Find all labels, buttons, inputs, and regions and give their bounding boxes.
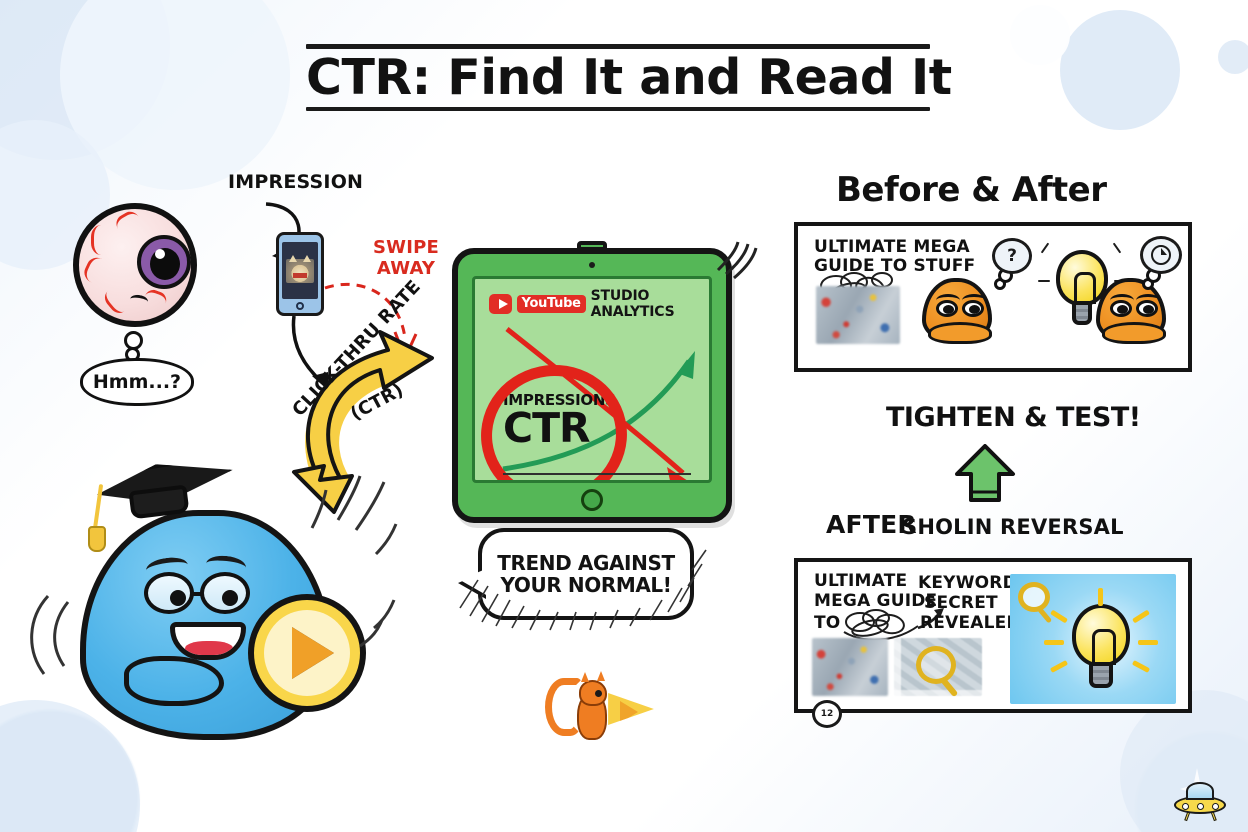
mascot-pupil-left bbox=[170, 590, 186, 606]
youtube-logo: YouTube STUDIO ANALYTICS bbox=[489, 288, 709, 320]
mascot-motion-lines-right bbox=[290, 470, 400, 670]
eyeball-glint bbox=[155, 249, 165, 259]
tablet-camera-icon bbox=[589, 262, 595, 268]
magnifying-glass-icon bbox=[916, 646, 956, 684]
title-rule-bottom bbox=[306, 107, 930, 111]
impression-label: IMPRESSION bbox=[228, 172, 363, 192]
blob-character-after bbox=[1096, 278, 1166, 344]
speech-bubble-hatching bbox=[440, 520, 740, 640]
phone-screen bbox=[282, 242, 318, 299]
squirrel-eye bbox=[595, 690, 602, 697]
lightbulb-ray bbox=[1050, 660, 1068, 673]
lightbulb-ray bbox=[1041, 243, 1050, 254]
green-up-arrow-icon bbox=[955, 444, 1019, 506]
swipe-away-line1: SWIPE bbox=[373, 238, 439, 257]
ufo-light bbox=[1197, 803, 1204, 810]
blob-eye-left bbox=[936, 300, 958, 317]
mascot-tongue bbox=[185, 641, 233, 657]
poster-canvas: CTR: Find It and Read It Hmm...? IMPRESS… bbox=[0, 0, 1248, 832]
squirrel-play-button-icon bbox=[605, 684, 657, 734]
after-badge-text: 12 bbox=[821, 709, 834, 719]
before-thumbnail-image bbox=[816, 286, 900, 344]
tablet-top-nub bbox=[577, 241, 607, 251]
blob-eye-right bbox=[962, 300, 984, 317]
magnifier-ring bbox=[916, 646, 956, 684]
lightbulb-ray bbox=[1044, 640, 1064, 645]
magnifier-ring bbox=[1018, 582, 1050, 612]
before-after-heading: Before & After bbox=[836, 170, 1106, 210]
studio-analytics-label: STUDIO ANALYTICS bbox=[591, 288, 709, 320]
after-headline-line1: ULTIMATE bbox=[814, 572, 907, 590]
lightbulb-ray bbox=[1132, 660, 1150, 673]
phone-thumbnail-image bbox=[286, 259, 314, 283]
lightbulb-ray bbox=[1113, 243, 1122, 254]
phone-home-button bbox=[296, 302, 304, 310]
ufo-light bbox=[1212, 803, 1219, 810]
blob-crossed-arms bbox=[1102, 322, 1166, 344]
eyeball-icon bbox=[73, 203, 197, 327]
after-result-panel: ULTIMATE MEGA GUIDE TO 12 KEYWORD SECRET… bbox=[794, 558, 1192, 713]
background-bokeh bbox=[60, 0, 290, 190]
tablet-screen: YouTube STUDIO ANALYTICS IMPRESSIONS CTR bbox=[472, 276, 712, 483]
glasses-lens-right bbox=[200, 572, 250, 614]
mascot-arm bbox=[124, 656, 224, 706]
lightbulb-ray bbox=[1050, 610, 1068, 624]
magnifying-glass-icon bbox=[1018, 582, 1050, 612]
blob-eye-left bbox=[1110, 300, 1132, 317]
squirrel-head bbox=[579, 680, 607, 706]
eyeball-thought-text: Hmm...? bbox=[93, 371, 181, 393]
youtube-wordmark: YouTube bbox=[517, 295, 586, 313]
lightbulb-filament bbox=[1074, 272, 1097, 305]
lightbulb-icon bbox=[1072, 604, 1130, 692]
clock-icon bbox=[1150, 244, 1172, 266]
blob-character-before bbox=[922, 278, 992, 344]
background-bokeh bbox=[1060, 10, 1180, 130]
eyeball-thought-bubble: Hmm...? bbox=[80, 358, 194, 406]
lightbulb-base bbox=[1072, 301, 1093, 324]
graduation-cap-tassel-end bbox=[88, 526, 106, 552]
lightbulb-base bbox=[1089, 662, 1112, 688]
eyeball-vein bbox=[91, 225, 116, 255]
glasses-lens-left bbox=[144, 572, 194, 614]
keyword-callout-line2: SECRET bbox=[924, 594, 998, 612]
after-caption-rest: SHOLIN REVERSAL bbox=[902, 516, 1124, 538]
mascot-pupil-right bbox=[222, 590, 238, 606]
tablet-device: YouTube STUDIO ANALYTICS IMPRESSIONS CTR bbox=[452, 248, 732, 523]
graduation-cap-tassel bbox=[93, 484, 103, 530]
clock-thought-bubble bbox=[1140, 236, 1182, 274]
page-title: CTR: Find It and Read It bbox=[306, 44, 930, 111]
lightbulb-ray bbox=[1098, 588, 1103, 606]
tablet-home-button[interactable] bbox=[581, 489, 603, 511]
youtube-play-icon bbox=[489, 294, 512, 314]
lightbulb-ray bbox=[1132, 610, 1150, 624]
after-badge: 12 bbox=[812, 700, 842, 728]
phone-icon bbox=[276, 232, 324, 316]
title-text: CTR: Find It and Read It bbox=[306, 49, 930, 105]
before-after-panel: ULTIMATE MEGA GUIDE TO STUFF ? bbox=[794, 222, 1192, 372]
background-bokeh bbox=[0, 0, 170, 160]
eyeball-iris bbox=[137, 235, 191, 289]
blob-eye-right bbox=[1136, 300, 1158, 317]
tighten-and-test-label: TIGHTEN & TEST! bbox=[886, 404, 1141, 433]
ufo-icon bbox=[1172, 780, 1230, 824]
lightbulb-filament bbox=[1092, 629, 1117, 665]
chart-baseline bbox=[503, 473, 691, 475]
keyword-callout-line1: KEYWORD bbox=[918, 574, 1017, 592]
tablet-motion-lines bbox=[712, 240, 758, 280]
question-thought-bubble: ? bbox=[992, 238, 1032, 274]
before-headline-line1: ULTIMATE MEGA bbox=[814, 238, 970, 256]
squirrel-ear-left bbox=[581, 672, 589, 682]
blob-crossed-arms bbox=[928, 322, 992, 344]
after-thumbnail-image-left bbox=[812, 638, 888, 696]
mascot-motion-lines-left bbox=[18, 588, 88, 708]
question-mark-text: ? bbox=[1007, 246, 1017, 266]
lightbulb-ray bbox=[1038, 280, 1050, 282]
background-bokeh bbox=[1218, 40, 1248, 74]
mascot-glasses-icon bbox=[144, 572, 276, 614]
squirrel-ear-right bbox=[597, 671, 605, 681]
ufo-dome bbox=[1186, 782, 1214, 800]
after-lightbulb-thumbnail bbox=[1010, 574, 1176, 704]
ufo-light bbox=[1182, 803, 1189, 810]
lightbulb-ray bbox=[1138, 640, 1158, 645]
squirrel-icon bbox=[545, 668, 655, 752]
thumbnail-red-bar bbox=[293, 273, 307, 278]
magnifier-handle bbox=[1037, 606, 1052, 623]
background-bokeh bbox=[1010, 5, 1070, 65]
